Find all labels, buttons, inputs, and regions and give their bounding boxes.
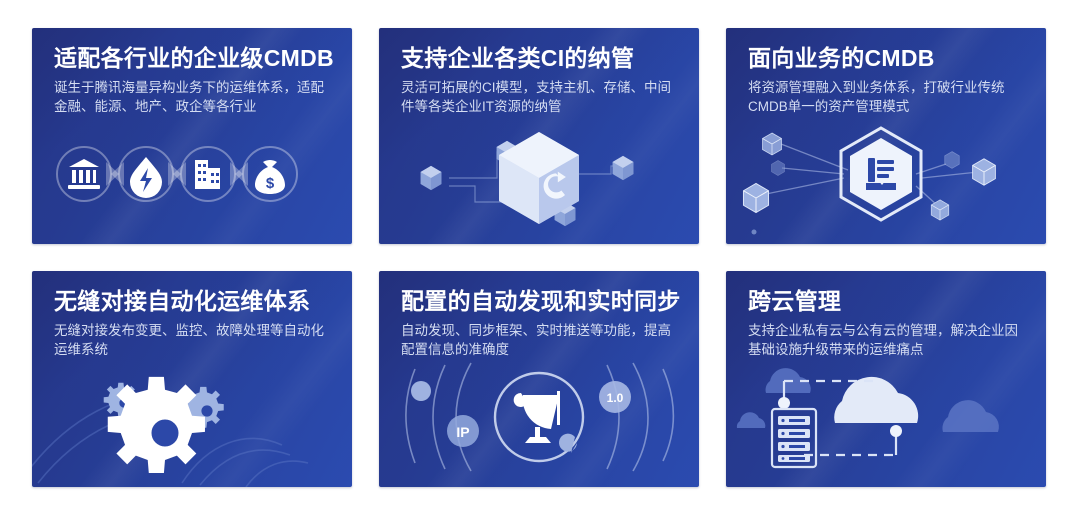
card-title: 无缝对接自动化运维体系 — [54, 287, 336, 316]
svg-text:IP: IP — [456, 424, 469, 440]
feature-card-multi-cloud-management[interactable]: 跨云管理 支持企业私有云与公有云的管理，解决企业因基础设施升级带来的运维痛点 — [726, 271, 1046, 487]
svg-text:$: $ — [266, 175, 275, 192]
illustration-industry-icon-chain: $ — [32, 116, 352, 244]
building-icon — [195, 160, 220, 189]
feature-card-ci-management[interactable]: 支持企业各类CI的纳管 灵活可拓展的CI模型，支持主机、存储、中间件等各类企业I… — [379, 28, 699, 244]
link-node — [778, 397, 790, 409]
feature-card-auto-discovery-sync[interactable]: 配置的自动发现和实时同步 自动发现、同步框架、实时推送等功能，提高配置信息的准确… — [379, 271, 699, 487]
card-title: 配置的自动发现和实时同步 — [401, 287, 683, 316]
feature-card-automation-integration[interactable]: 无缝对接自动化运维体系 无缝对接发布变更、监控、故障处理等自动化运维系统 — [32, 271, 352, 487]
card-title: 跨云管理 — [748, 287, 1030, 316]
illustration-hexagon-document-network — [726, 116, 1046, 244]
badge-ip: IP — [447, 415, 479, 447]
bank-icon — [68, 159, 100, 189]
card-text-block: 支持企业各类CI的纳管 灵活可拓展的CI模型，支持主机、存储、中间件等各类企业I… — [401, 44, 683, 117]
energy-drop-icon — [130, 157, 162, 198]
hexagon-badge — [841, 128, 921, 220]
card-description: 自动发现、同步框架、实时推送等功能，提高配置信息的准确度 — [401, 321, 681, 360]
card-title: 面向业务的CMDB — [748, 44, 1030, 73]
card-title: 支持企业各类CI的纳管 — [401, 44, 683, 73]
feature-card-business-oriented-cmdb[interactable]: 面向业务的CMDB 将资源管理融入到业务体系，打破行业传统CMDB单一的资产管理… — [726, 28, 1046, 244]
feature-card-grid: 适配各行业的企业级CMDB 诞生于腾讯海量异构业务下的运维体系，适配金融、能源、… — [32, 28, 1046, 488]
card-text-block: 配置的自动发现和实时同步 自动发现、同步框架、实时推送等功能，提高配置信息的准确… — [401, 287, 683, 360]
dot-accent — [752, 230, 757, 235]
link-node — [890, 425, 902, 437]
illustration-isometric-cube-network — [379, 116, 699, 244]
feature-card-enterprise-cmdb[interactable]: 适配各行业的企业级CMDB 诞生于腾讯海量异构业务下的运维体系，适配金融、能源、… — [32, 28, 352, 244]
money-bag-icon: $ — [255, 160, 285, 194]
card-text-block: 面向业务的CMDB 将资源管理融入到业务体系，打破行业传统CMDB单一的资产管理… — [748, 44, 1030, 117]
card-title: 适配各行业的企业级CMDB — [54, 44, 336, 73]
illustration-cloud-server-link — [726, 359, 1046, 487]
svg-text:1.0: 1.0 — [607, 391, 624, 405]
card-description: 诞生于腾讯海量异构业务下的运维体系，适配金融、能源、地产、政企等各行业 — [54, 78, 334, 117]
card-text-block: 跨云管理 支持企业私有云与公有云的管理，解决企业因基础设施升级带来的运维痛点 — [748, 287, 1030, 360]
card-description: 支持企业私有云与公有云的管理，解决企业因基础设施升级带来的运维痛点 — [748, 321, 1028, 360]
server-rack-icon — [772, 409, 816, 467]
badge-version: 1.0 — [599, 381, 631, 413]
satellite-dish-icon — [514, 391, 560, 443]
card-description: 无缝对接发布变更、监控、故障处理等自动化运维系统 — [54, 321, 334, 360]
illustration-gears — [32, 359, 352, 487]
gear-main — [108, 377, 205, 473]
main-cloud-icon — [834, 377, 918, 423]
card-description: 灵活可拓展的CI模型，支持主机、存储、中间件等各类企业IT资源的纳管 — [401, 78, 681, 117]
card-description: 将资源管理融入到业务体系，打破行业传统CMDB单一的资产管理模式 — [748, 78, 1028, 117]
card-text-block: 无缝对接自动化运维体系 无缝对接发布变更、监控、故障处理等自动化运维系统 — [54, 287, 336, 360]
illustration-satellite-dish-signals: IP 1.0 — [379, 359, 699, 487]
card-text-block: 适配各行业的企业级CMDB 诞生于腾讯海量异构业务下的运维体系，适配金融、能源、… — [54, 44, 336, 117]
